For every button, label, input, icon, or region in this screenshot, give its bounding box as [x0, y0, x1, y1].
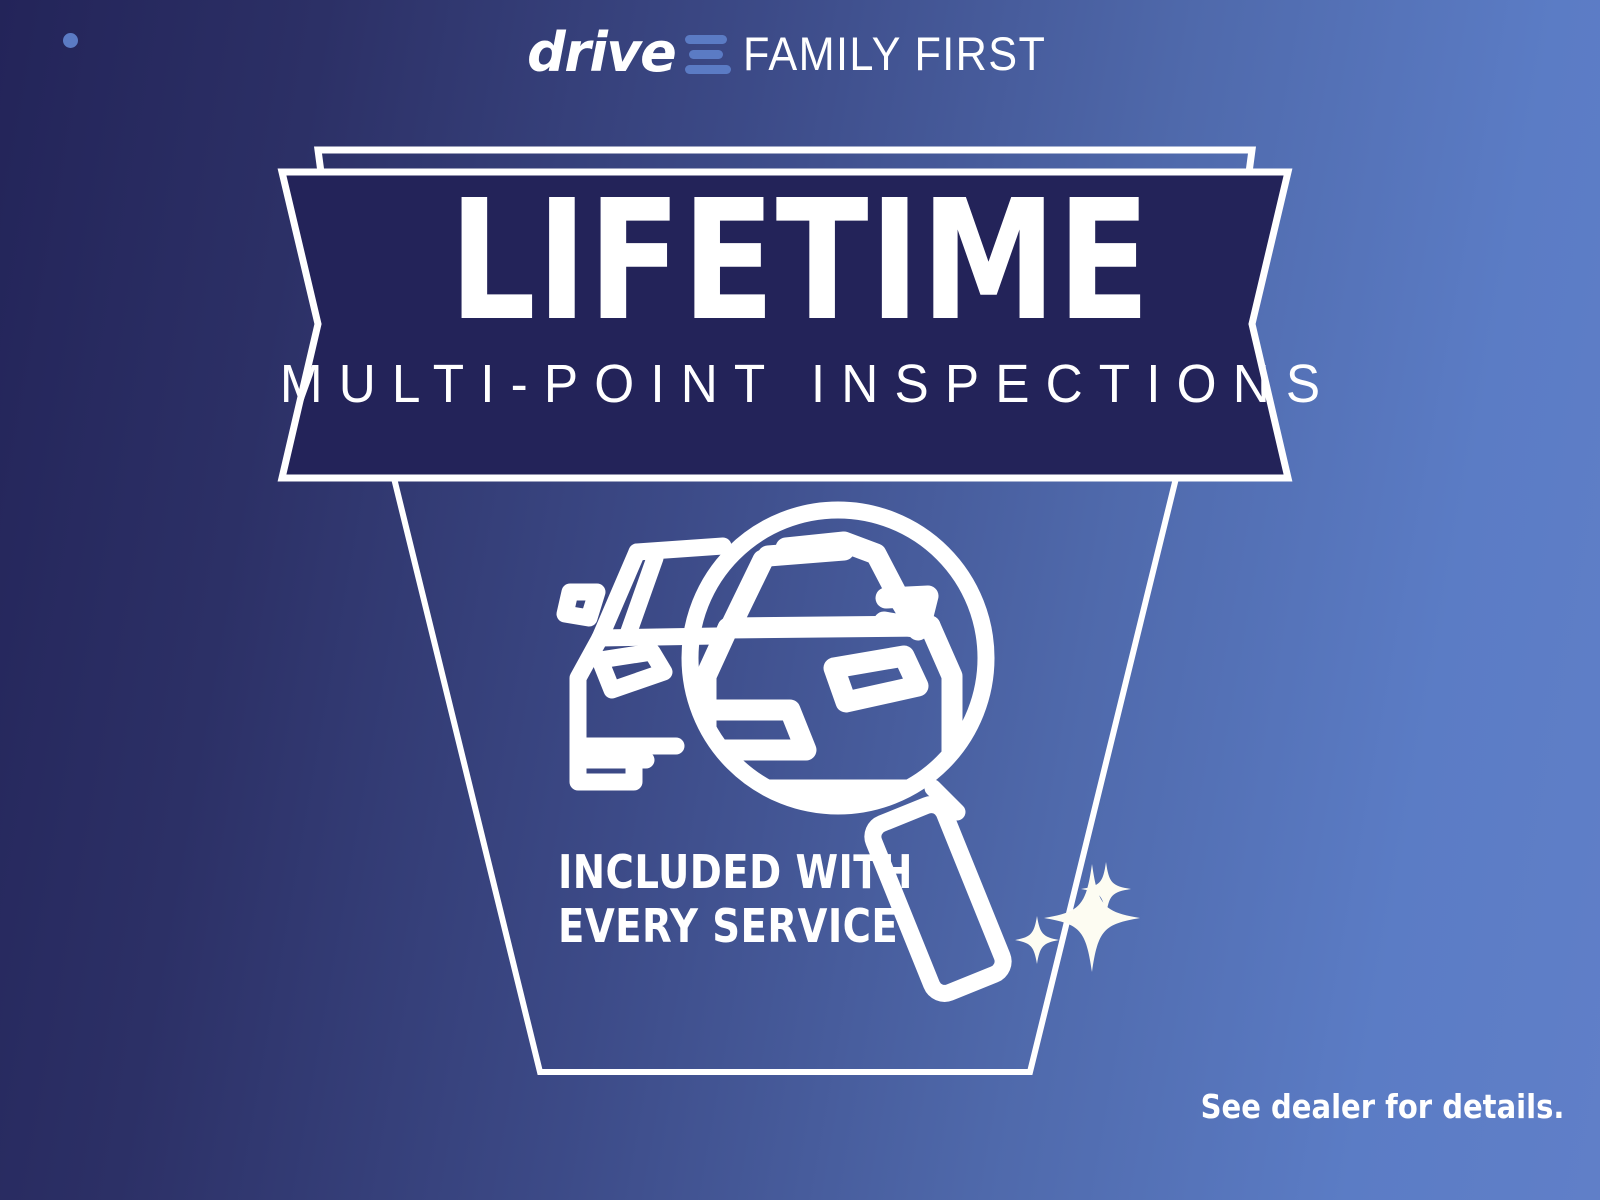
promo-line-1: INCLUDED WITH: [558, 846, 919, 900]
promo-line-2: EVERY SERVICE: [558, 900, 919, 954]
banner-shape: [282, 172, 1288, 478]
disclaimer-text: See dealer for details.: [1200, 1087, 1564, 1126]
promo-copy: INCLUDED WITH EVERY SERVICE: [558, 846, 919, 954]
car-front-icon: [565, 546, 723, 782]
artwork-stage: [0, 0, 1600, 1200]
